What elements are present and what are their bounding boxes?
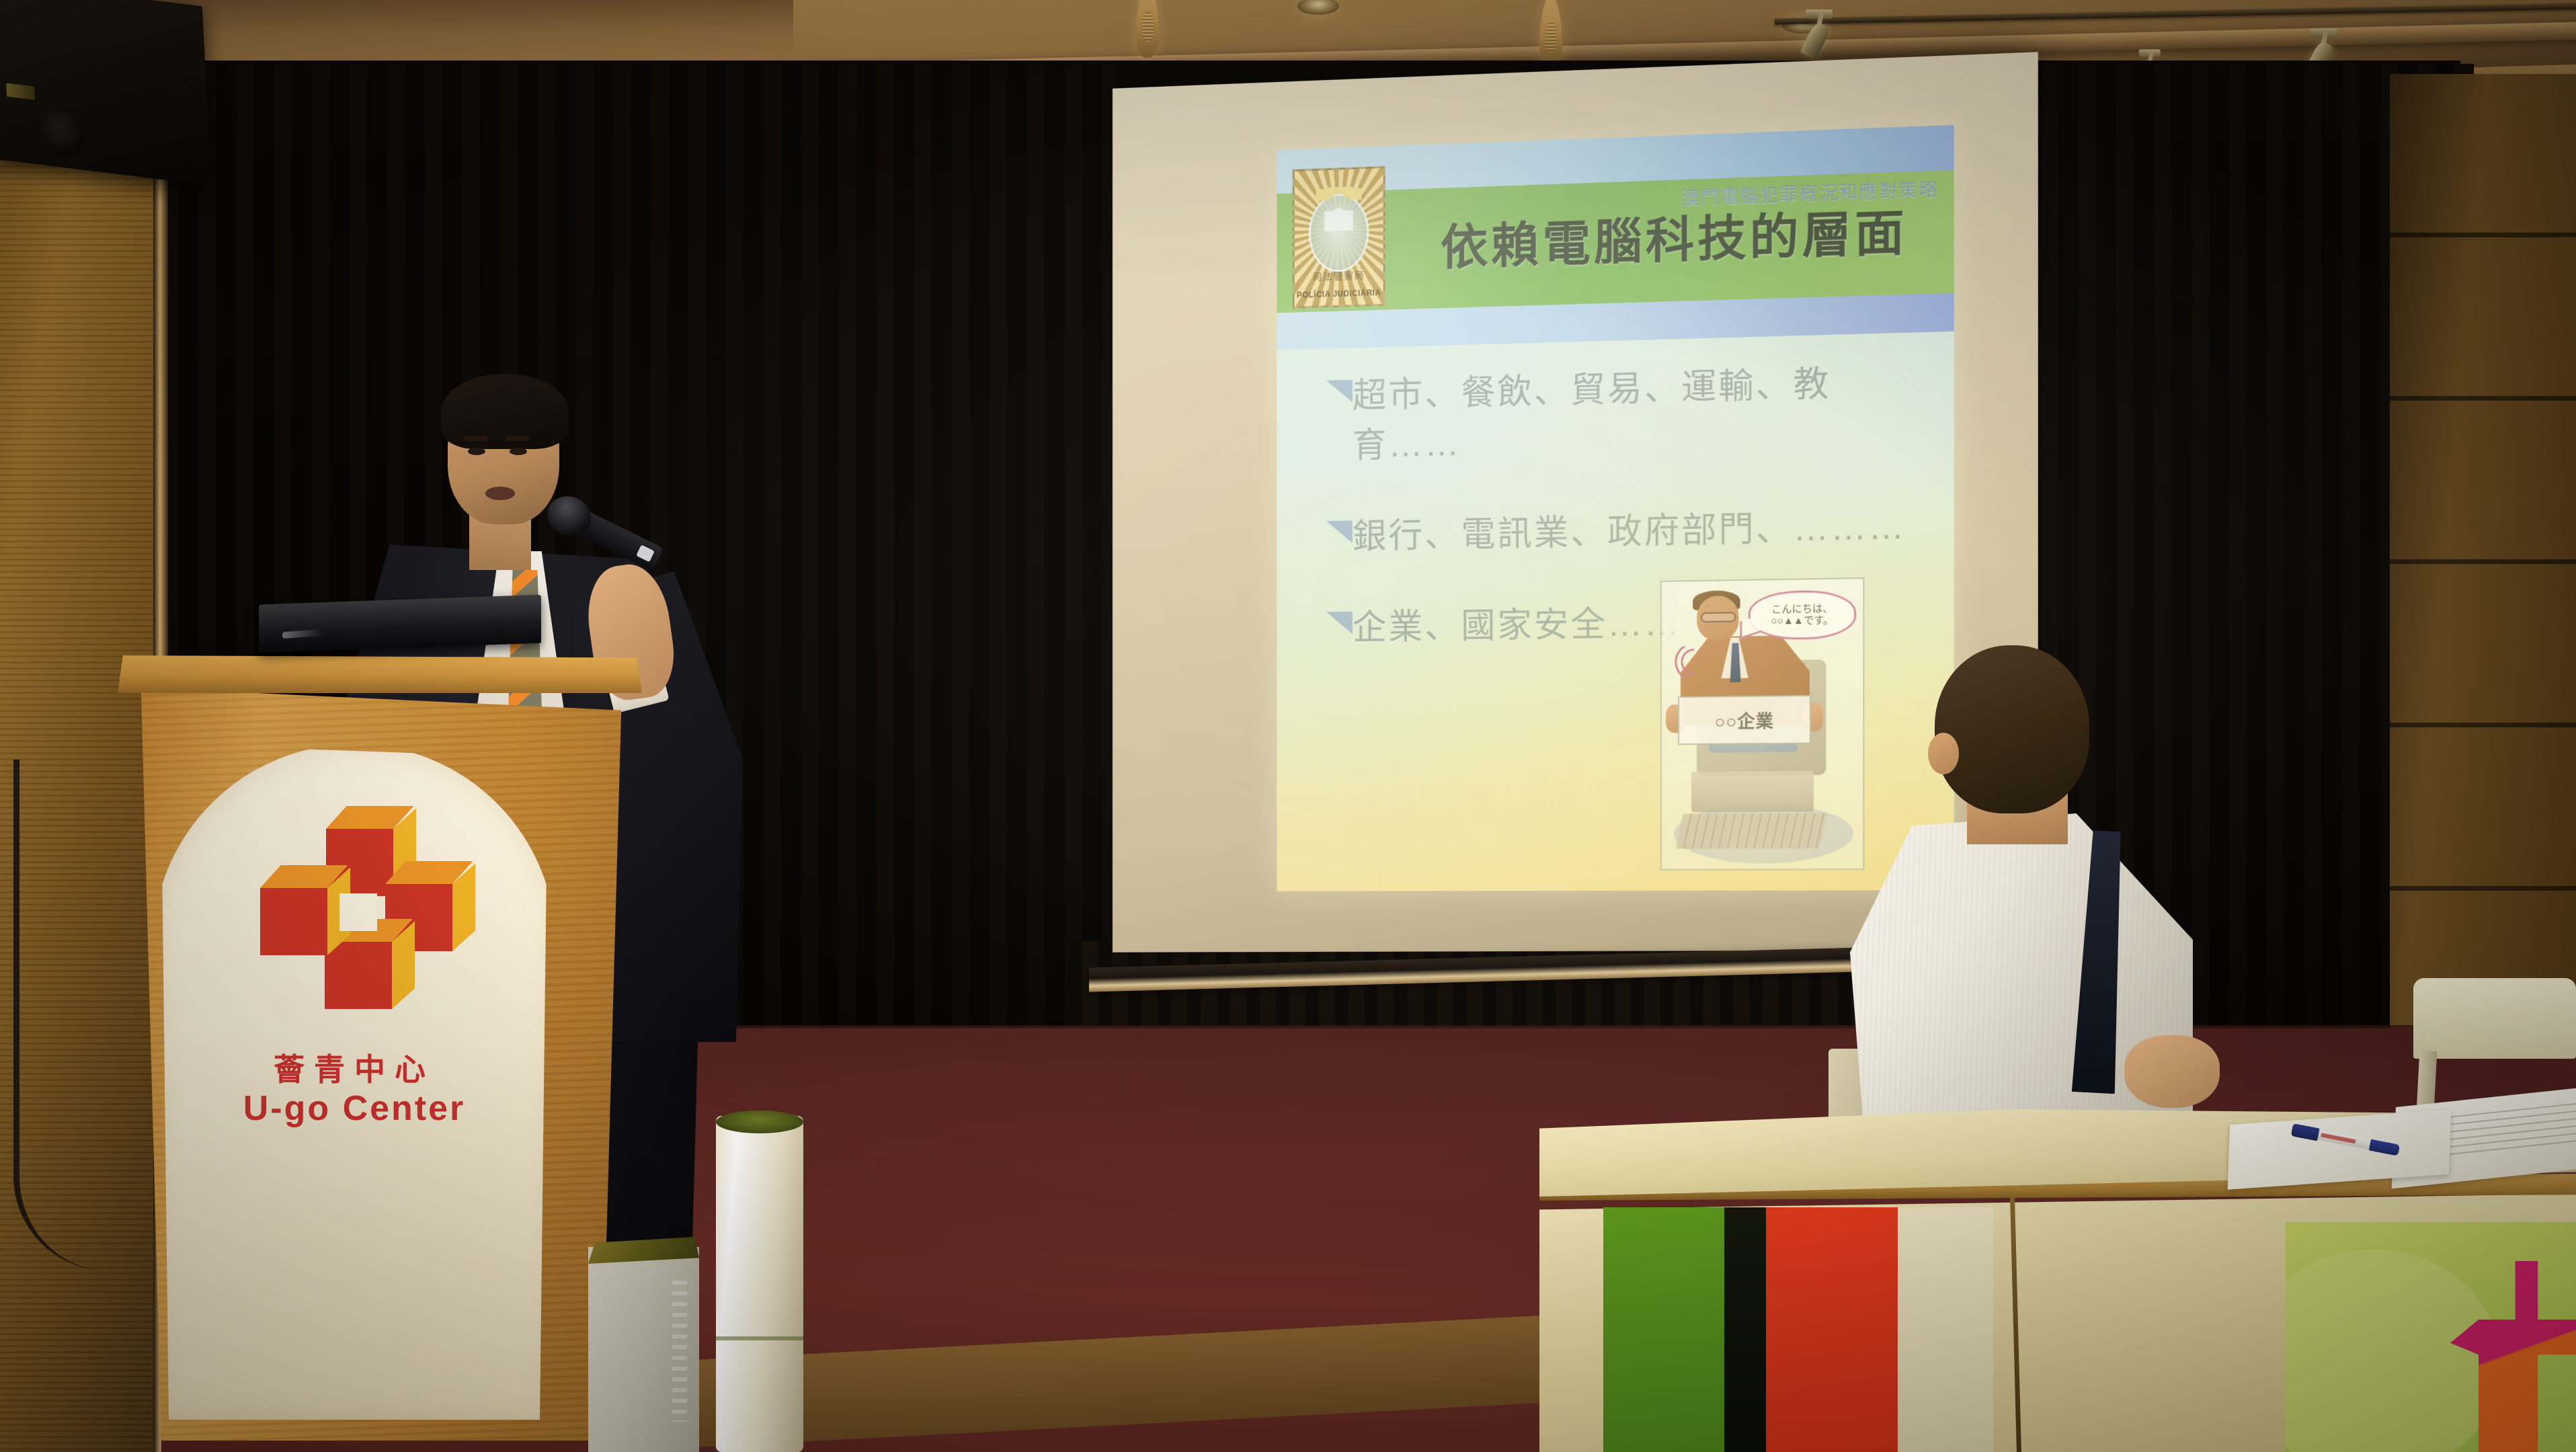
lotus-icon [1324,201,1353,231]
laptop[interactable] [259,595,541,653]
chair-back [2413,978,2576,1059]
glasses-icon [1701,612,1736,622]
speaker-led-icon [6,83,35,99]
slide-cartoon-illustration: ○○企業 こんにちは、 ○○▲▲です。 [1660,577,1864,871]
poster-tube-opening [716,1111,803,1133]
presenter-hair [441,374,569,449]
stars-icon [1316,186,1362,201]
pendant-lamp-icon [1136,0,1159,58]
desk-stripe-graphic [1603,1207,1993,1452]
rolled-poster-tube [716,1116,803,1452]
list-item: 超市、餐飲、貿易、運輸、教育…… [1326,353,1917,468]
speech-bubble-icon: こんにちは、 ○○▲▲です。 [1748,590,1856,640]
bullet-arrow-icon [1326,380,1353,403]
podium-sign-panel: 薈青中心 U-go Center [153,744,556,1420]
stripe-green [1603,1207,1724,1452]
right-wood-wall [2390,74,2576,1082]
bullet-text: 超市、餐飲、貿易、運輸、教育…… [1353,353,1917,467]
list-item: 銀行、電訊業、政府部門、……… [1326,497,1917,559]
emblem-name-cn: 司法警察局 [1295,268,1383,284]
panel-desk [1539,1109,2576,1452]
track-spotlight-icon [1802,12,1849,56]
police-emblem-icon: 司法警察局 POLÍCIA JUDICIÁRIA [1293,166,1385,309]
conference-room-photo: 澳門電腦犯罪概況和應對策略 司法警察局 POLÍCIA JUDICIÁRIA 依… [0,0,2576,1452]
podium-top-surface [118,655,642,693]
attendee-ear [1928,733,1959,774]
attendee-hand [2124,1035,2220,1108]
panel-arc-shape [2286,1249,2501,1452]
ugo-center-logo-icon [253,823,455,1012]
wall-speaker [0,0,212,186]
desk-green-panel [2286,1222,2576,1452]
bullet-text: 企業、國家安全…… [1353,594,1681,649]
speaker-cone-icon [40,109,86,159]
stripe-cream [1898,1207,1993,1452]
slide-title: 依賴電腦科技的層面 [1441,192,1908,278]
floor-cable [13,760,128,1270]
pendant-lamp-icon [1539,0,1562,69]
speech-line-1: こんにちは、 [1771,603,1833,616]
stripe-black [1724,1207,1766,1452]
venue-name-cn: 薈青中心 [153,1045,556,1090]
speech-line-2: ○○▲▲です。 [1771,614,1833,627]
bullet-arrow-icon [1326,612,1353,635]
keyboard-icon [1675,813,1826,848]
podium: 薈青中心 U-go Center [118,655,642,1452]
materials-box-label [672,1281,687,1422]
bullet-text: 銀行、電訊業、政府部門、……… [1353,497,1906,558]
attendee-head [1935,645,2089,813]
poster-tube-band [716,1336,803,1340]
emblem-name-pt: POLÍCIA JUDICIÁRIA [1295,288,1383,300]
stripe-red [1766,1207,1898,1452]
venue-name-en: U-go Center [153,1088,556,1129]
seated-attendee [1842,645,2259,1129]
bullet-arrow-icon [1326,520,1353,543]
cartoon-sign-text: ○○企業 [1678,695,1811,745]
